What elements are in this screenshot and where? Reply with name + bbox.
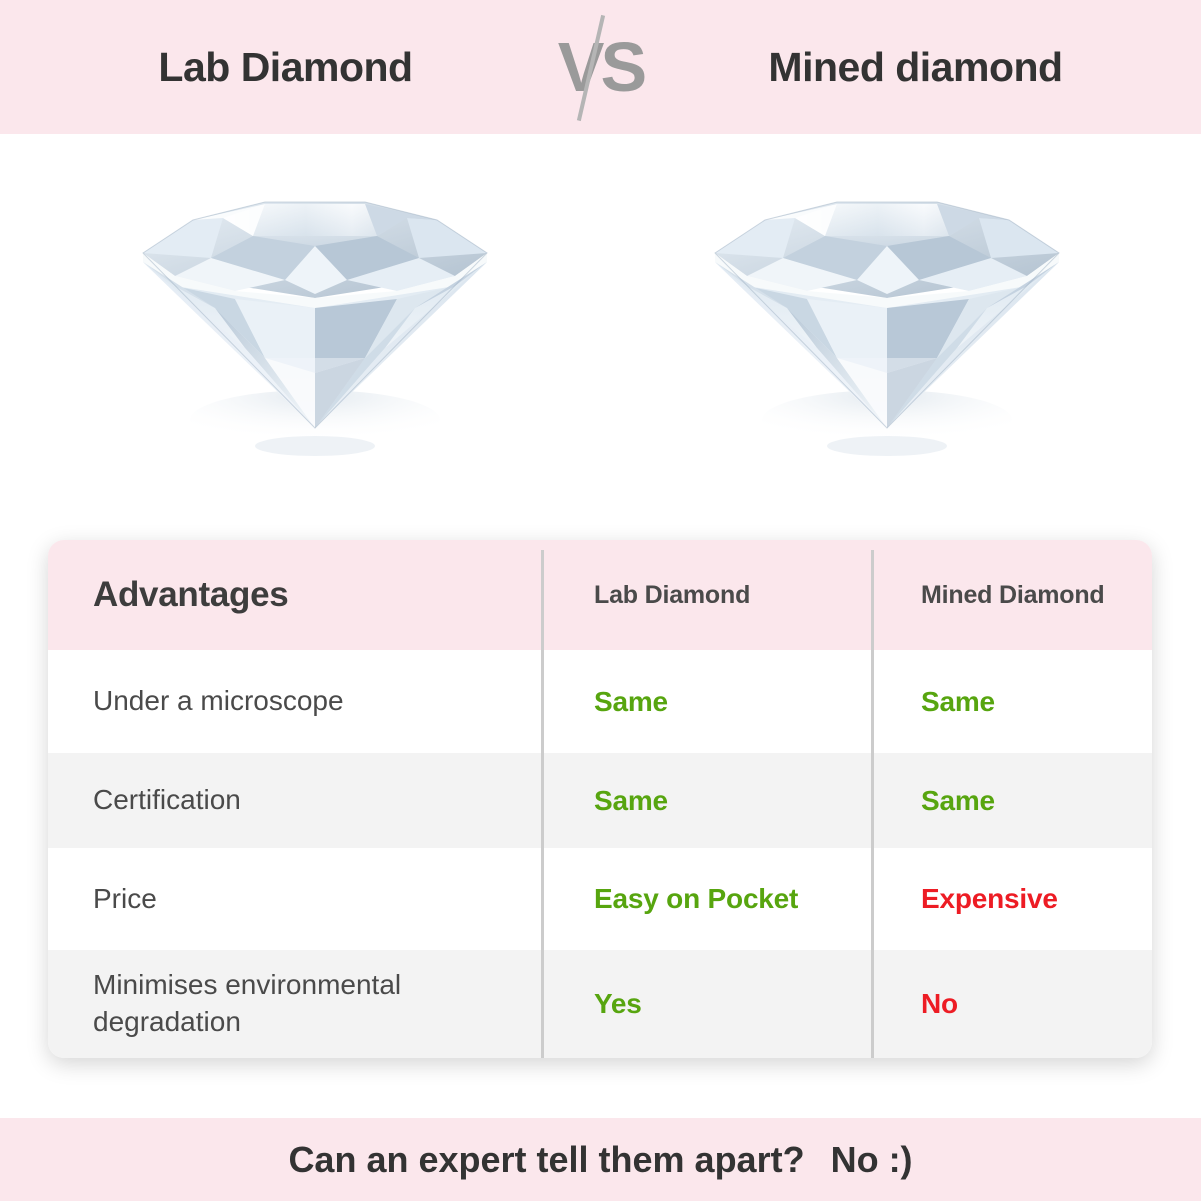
footer-question: Can an expert tell them apart? (288, 1139, 804, 1181)
row-feature-label: Minimises environmental degradation (48, 967, 541, 1041)
footer-answer: No :) (831, 1139, 913, 1181)
row-mined-value: Same (871, 686, 1152, 718)
diamond-image-row (0, 134, 1201, 534)
row-mined-value: Expensive (871, 883, 1152, 915)
row-lab-value: Same (541, 686, 871, 718)
table-row: Under a microscope Same Same (48, 650, 1152, 753)
mined-diamond-graphic (687, 158, 1087, 478)
footer-band: Can an expert tell them apart? No :) (0, 1118, 1201, 1201)
row-feature-label: Certification (48, 782, 541, 819)
header-band: Lab Diamond VS Mined diamond (0, 0, 1201, 134)
table-row: Minimises environmental degradation Yes … (48, 950, 1152, 1058)
row-feature-label: Under a microscope (48, 683, 541, 720)
row-mined-value: No (871, 988, 1152, 1020)
column-divider-1 (541, 550, 544, 1058)
table-header-row: Advantages Lab Diamond Mined Diamond (48, 540, 1152, 650)
vs-badge: VS (546, 12, 656, 122)
table-row: Price Easy on Pocket Expensive (48, 848, 1152, 950)
row-mined-value: Same (871, 785, 1152, 817)
row-feature-label: Price (48, 881, 541, 918)
table-row: Certification Same Same (48, 753, 1152, 848)
header-title-mined: Mined diamond (656, 44, 1176, 91)
lab-diamond-graphic (115, 158, 515, 478)
column-divider-2 (871, 550, 874, 1058)
table-header-mined-diamond: Mined Diamond (871, 581, 1152, 610)
row-lab-value: Yes (541, 988, 871, 1020)
vs-label: VS (558, 32, 643, 102)
row-lab-value: Easy on Pocket (541, 883, 871, 915)
comparison-table-card: Advantages Lab Diamond Mined Diamond Und… (48, 540, 1152, 1058)
row-lab-value: Same (541, 785, 871, 817)
table-header-advantages: Advantages (48, 575, 541, 615)
header-inner: Lab Diamond VS Mined diamond (0, 12, 1201, 122)
header-title-lab: Lab Diamond (26, 44, 546, 91)
table-header-lab-diamond: Lab Diamond (541, 581, 871, 610)
lab-diamond-image (115, 158, 515, 478)
mined-diamond-image (687, 158, 1087, 478)
